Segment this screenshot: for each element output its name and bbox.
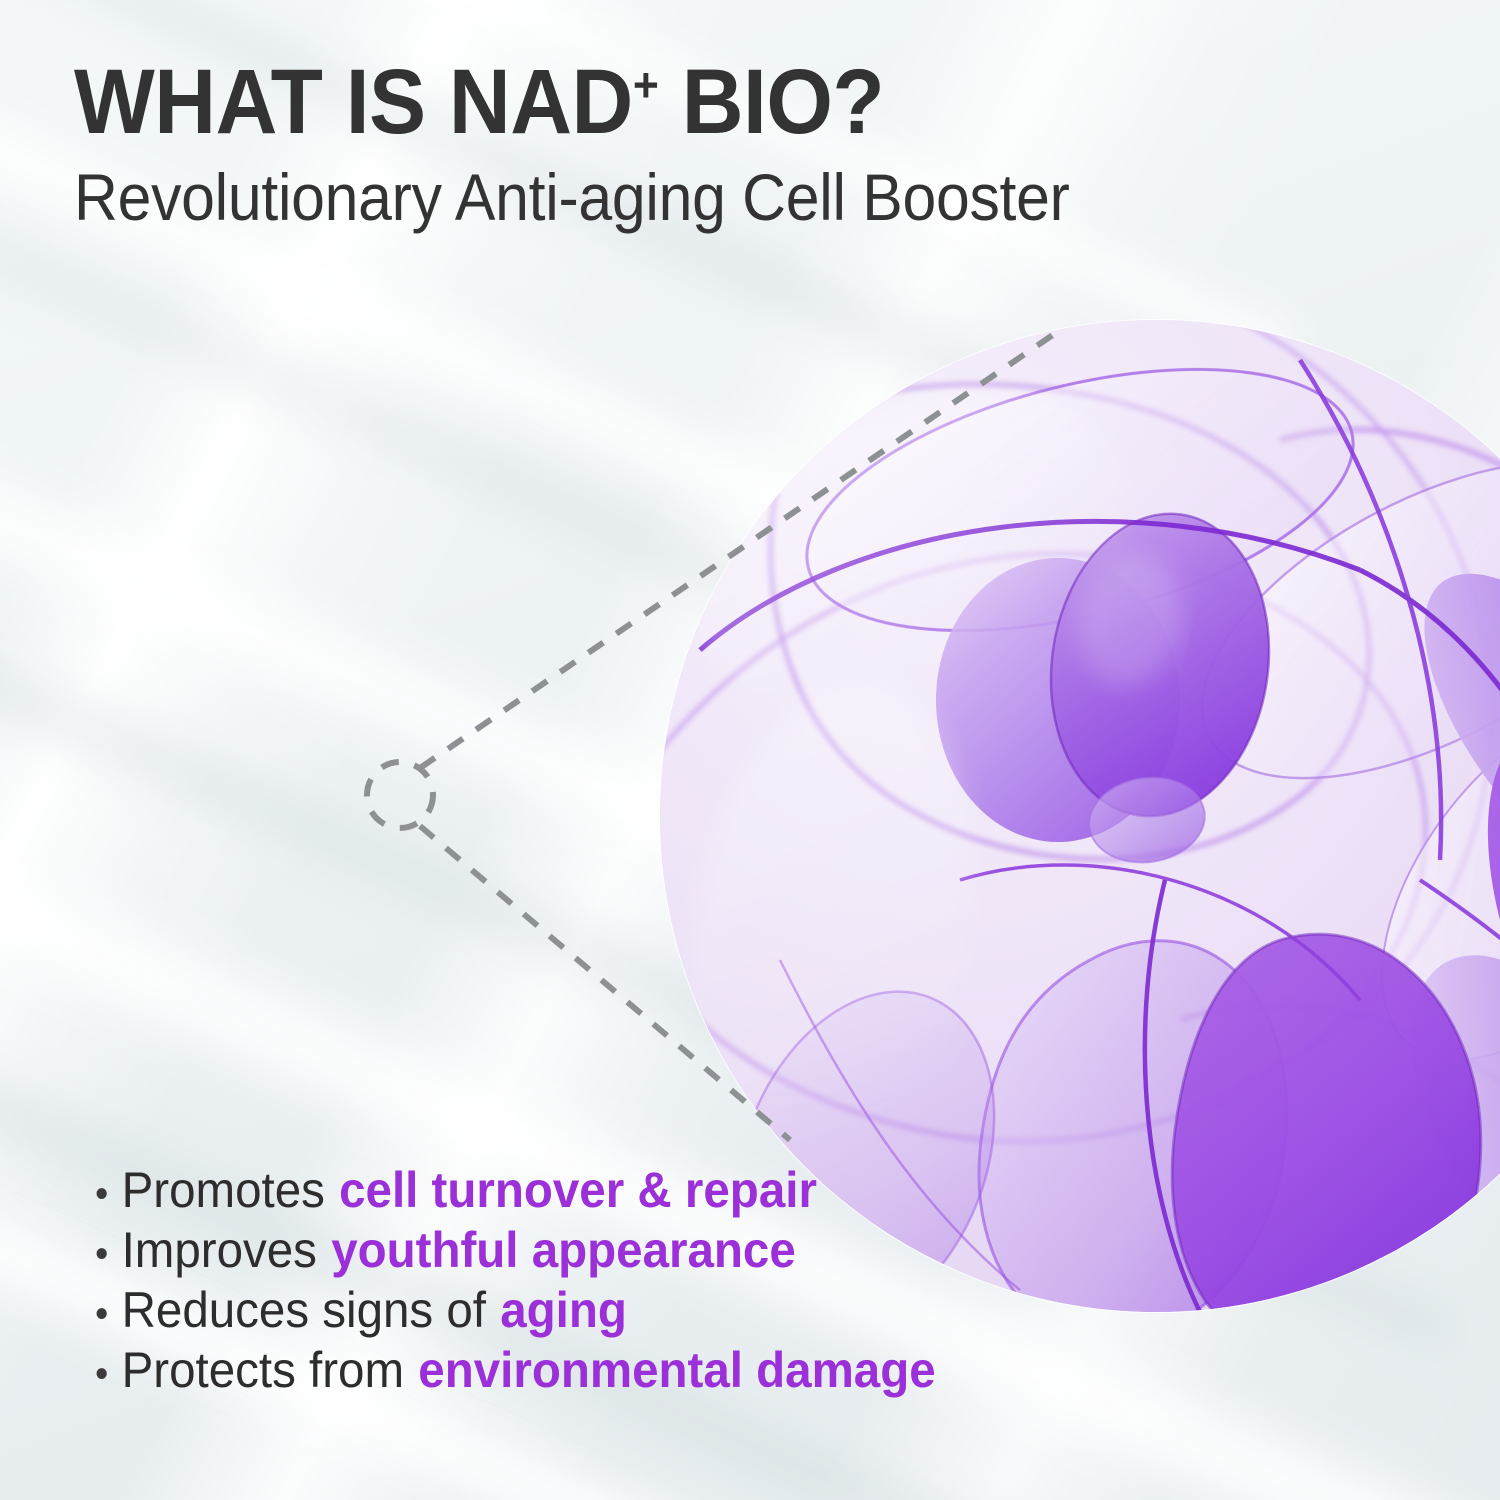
benefits-list: • Promotes cell turnover & repair • Impr…	[95, 1162, 980, 1402]
page-subtitle: Revolutionary Anti-aging Cell Booster	[74, 164, 1178, 230]
list-item: • Promotes cell turnover & repair	[95, 1162, 936, 1222]
benefit-plain-text: Promotes	[122, 1162, 325, 1218]
benefit-plain-text: Reduces signs of	[122, 1282, 486, 1338]
poster-canvas: WHAT IS NAD+ BIO? Revolutionary Anti-agi…	[0, 0, 1500, 1500]
benefit-highlight-text: environmental damage	[418, 1342, 935, 1398]
benefit-plain-text: Protects from	[122, 1342, 404, 1398]
heading-block: WHAT IS NAD+ BIO? Revolutionary Anti-agi…	[74, 56, 1274, 230]
bullet-icon: •	[95, 1166, 122, 1222]
list-item: • Reduces signs of aging	[95, 1282, 936, 1342]
benefit-plain-text: Improves	[122, 1222, 317, 1278]
list-item: • Improves youthful appearance	[95, 1222, 936, 1282]
callout-origin-circle	[367, 762, 433, 828]
bullet-icon: •	[95, 1286, 122, 1342]
benefit-highlight-text: cell turnover & repair	[339, 1162, 817, 1218]
bullet-icon: •	[95, 1346, 122, 1402]
page-title-tail: BIO?	[658, 51, 884, 153]
page-title: WHAT IS NAD+ BIO?	[74, 56, 1190, 148]
page-title-superscript: +	[633, 59, 659, 112]
benefit-highlight-text: aging	[500, 1282, 627, 1338]
benefit-highlight-text: youthful appearance	[331, 1222, 796, 1278]
list-item: • Protects from environmental damage	[95, 1342, 936, 1402]
page-title-main: WHAT IS NAD	[74, 51, 633, 153]
bullet-icon: •	[95, 1226, 122, 1282]
